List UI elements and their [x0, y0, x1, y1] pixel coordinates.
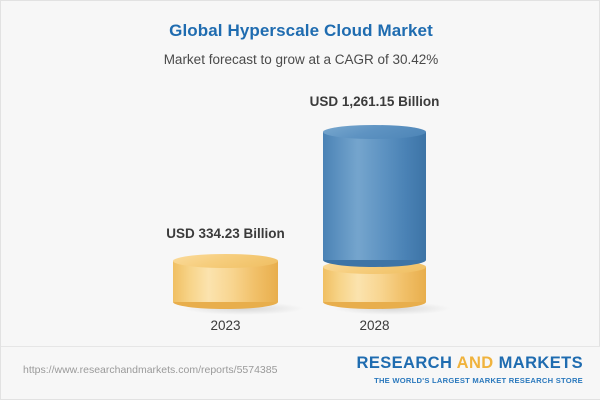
logo-word-and: AND [457, 354, 494, 372]
category-label-2028: 2028 [359, 318, 389, 333]
logo-wordmark: RESEARCH AND MARKETS [357, 355, 584, 372]
source-url[interactable]: https://www.researchandmarkets.com/repor… [23, 364, 277, 376]
cylinder-body-2028 [323, 132, 426, 260]
cylinder-cap-2023 [173, 254, 278, 268]
logo-word-research: RESEARCH [357, 354, 453, 372]
brand-logo[interactable]: RESEARCH AND MARKETS THE WORLD'S LARGEST… [357, 355, 584, 385]
footer: https://www.researchandmarkets.com/repor… [1, 346, 600, 399]
cylinder-cap-2028 [323, 125, 426, 139]
logo-word-markets: MARKETS [499, 354, 583, 372]
bar-cylinder-2023[interactable] [173, 254, 278, 309]
bar-value-label-2028: USD 1,261.15 Billion [310, 94, 440, 109]
logo-tagline: THE WORLD'S LARGEST MARKET RESEARCH STOR… [357, 376, 584, 385]
bar-cylinder-2028[interactable] [323, 125, 426, 267]
bar-cylinder-base-2028[interactable] [323, 260, 426, 309]
category-label-2023: 2023 [210, 318, 240, 333]
bar-group-2028[interactable]: USD 1,261.15 Billion 2028 [323, 1, 426, 349]
bar-value-label-2023: USD 334.23 Billion [166, 226, 285, 241]
chart-card: Global Hyperscale Cloud Market Market fo… [0, 0, 600, 400]
bar-group-2023[interactable]: USD 334.23 Billion 2023 [173, 1, 278, 349]
chart-plot-area: USD 334.23 Billion 2023 USD 1,261.15 Bil… [1, 1, 600, 349]
